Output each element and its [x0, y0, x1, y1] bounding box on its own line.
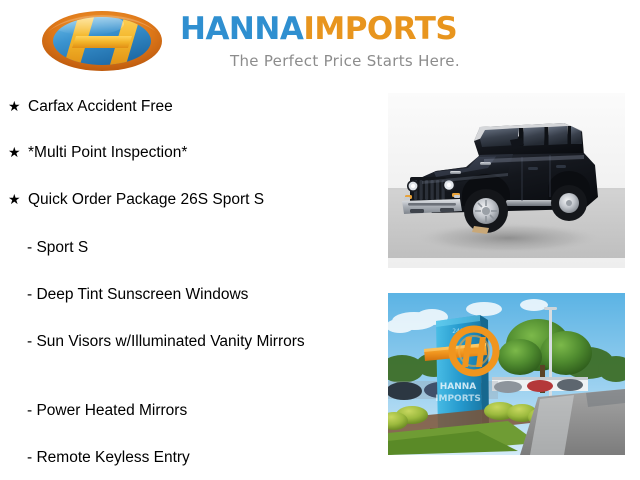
- logo-word-hanna: HANNA: [180, 11, 303, 47]
- feature-item-multi-point-inspection: ★ *Multi Point Inspection*: [8, 143, 370, 162]
- star-bullet-icon: ★: [8, 143, 28, 162]
- feature-item-quick-order-package: ★ Quick Order Package 26S Sport S: [8, 190, 370, 209]
- star-bullet-icon: ★: [8, 190, 28, 209]
- feature-subitem-sport-s: - Sport S: [27, 237, 327, 259]
- vehicle-photo[interactable]: [388, 93, 625, 268]
- svg-text:HANNA: HANNA: [440, 382, 477, 392]
- hanna-oval-h-icon: [32, 10, 172, 72]
- logo-word-imports: IMPORTS: [303, 11, 457, 47]
- page-header: HANNAIMPORTS The Perfect Price Starts He…: [0, 0, 640, 88]
- logo-text-block: HANNAIMPORTS The Perfect Price Starts He…: [180, 8, 532, 78]
- feature-item-carfax: ★ Carfax Accident Free: [8, 97, 370, 116]
- feature-subitem-sun-visors: - Sun Visors w/Illuminated Vanity Mirror…: [27, 331, 327, 353]
- feature-subitem-remote-keyless-entry: - Remote Keyless Entry: [27, 447, 327, 469]
- svg-text:IMPORTS: IMPORTS: [435, 394, 481, 404]
- logo-tagline: The Perfect Price Starts Here.: [230, 52, 460, 70]
- dealer-logo[interactable]: HANNAIMPORTS The Perfect Price Starts He…: [32, 6, 532, 82]
- feature-item-label: Quick Order Package 26S Sport S: [28, 190, 370, 209]
- feature-item-label: *Multi Point Inspection*: [28, 143, 370, 162]
- feature-item-label: Carfax Accident Free: [28, 97, 370, 116]
- vehicle-listing-page: HANNAIMPORTS The Perfect Price Starts He…: [0, 0, 640, 480]
- feature-subitem-power-heated-mirrors: - Power Heated Mirrors: [27, 400, 327, 422]
- feature-subitem-deep-tint-windows: - Deep Tint Sunscreen Windows: [27, 284, 327, 306]
- dealership-photo[interactable]: 240 HANNA IMPORTS: [388, 293, 625, 455]
- feature-list: ★ Carfax Accident Free ★ *Multi Point In…: [0, 93, 378, 480]
- logo-wordmark: HANNAIMPORTS: [180, 14, 457, 45]
- star-bullet-icon: ★: [8, 97, 28, 116]
